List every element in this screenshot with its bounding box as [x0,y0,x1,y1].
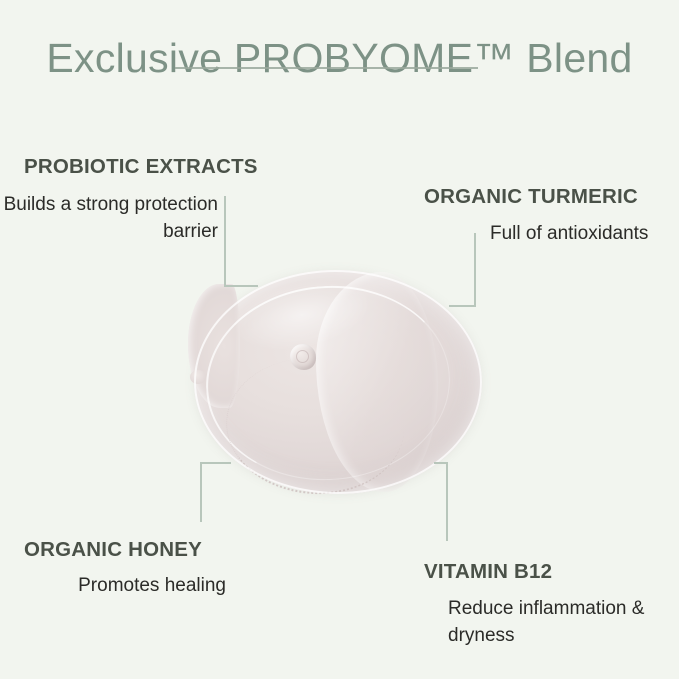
infographic-page: Exclusive PROBYOME™ Blend PROBIOTIC EXTR… [0,0,679,679]
connector-line-honey-horizontal [200,462,231,464]
connector-line-turmeric-vertical [474,233,476,307]
title-divider [175,67,478,69]
page-title: Exclusive PROBYOME™ Blend [0,36,679,81]
callout-title-probiotic-extracts: PROBIOTIC EXTRACTS [24,155,258,179]
callout-title-organic-turmeric: ORGANIC TURMERIC [424,185,638,209]
connector-line-probiotic-horizontal [224,285,258,287]
connector-line-b12-vertical [446,462,448,541]
callout-body-organic-turmeric: Full of antioxidants [490,221,679,248]
connector-line-turmeric-horizontal [449,305,476,307]
connector-line-honey-vertical [200,462,202,522]
connector-line-probiotic-vertical [224,196,226,286]
header: Exclusive PROBYOME™ Blend [0,36,679,81]
callout-body-probiotic-extracts: Builds a strong protection barrier [0,192,218,246]
callout-title-organic-honey: ORGANIC HONEY [24,538,202,562]
callout-body-organic-honey: Promotes healing [0,573,226,600]
callout-title-vitamin-b12: VITAMIN B12 [424,560,552,584]
callout-body-vitamin-b12: Reduce inflammation & dryness [448,596,679,650]
pad-rim [194,270,482,494]
